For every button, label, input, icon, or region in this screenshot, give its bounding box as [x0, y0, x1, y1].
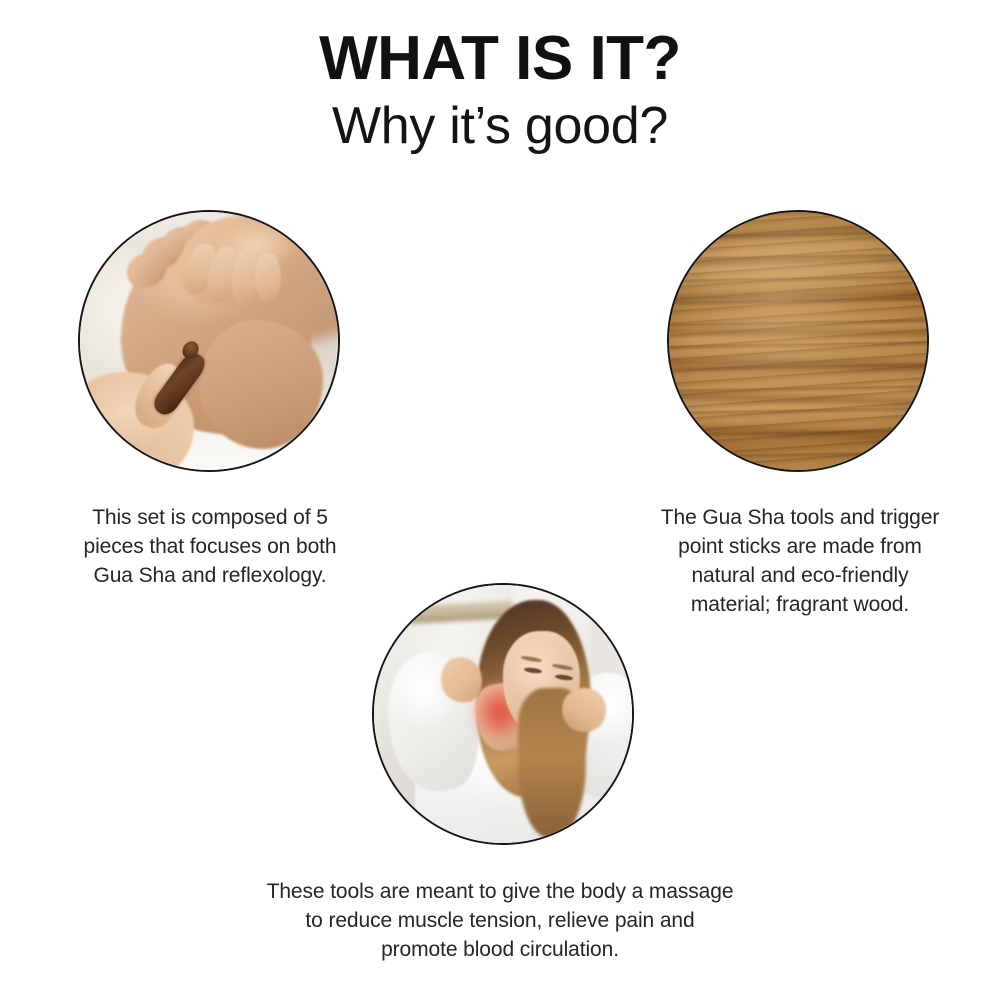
neck-pain-photo	[372, 583, 634, 845]
heel-shape	[199, 320, 323, 449]
wood-grain-photo	[667, 210, 929, 472]
title-block: WHAT IS IT? Why it’s good?	[0, 26, 1000, 157]
foot-massage-photo	[78, 210, 340, 472]
neck-pain-image-content	[374, 585, 632, 843]
page-title: WHAT IS IT?	[0, 26, 1000, 92]
page-subtitle: Why it’s good?	[0, 96, 1000, 157]
wood-vignette	[669, 212, 927, 470]
finger-shape	[255, 253, 281, 302]
foot-massage-image-content	[80, 212, 338, 470]
caption-material: The Gua Sha tools and trigger point stic…	[616, 504, 984, 620]
caption-composition: This set is composed of 5 pieces that fo…	[28, 504, 392, 591]
infographic-canvas: WHAT IS IT? Why it’s good?	[0, 0, 1000, 1000]
wood-grain-image-content	[669, 212, 927, 470]
caption-benefits: These tools are meant to give the body a…	[190, 878, 810, 965]
